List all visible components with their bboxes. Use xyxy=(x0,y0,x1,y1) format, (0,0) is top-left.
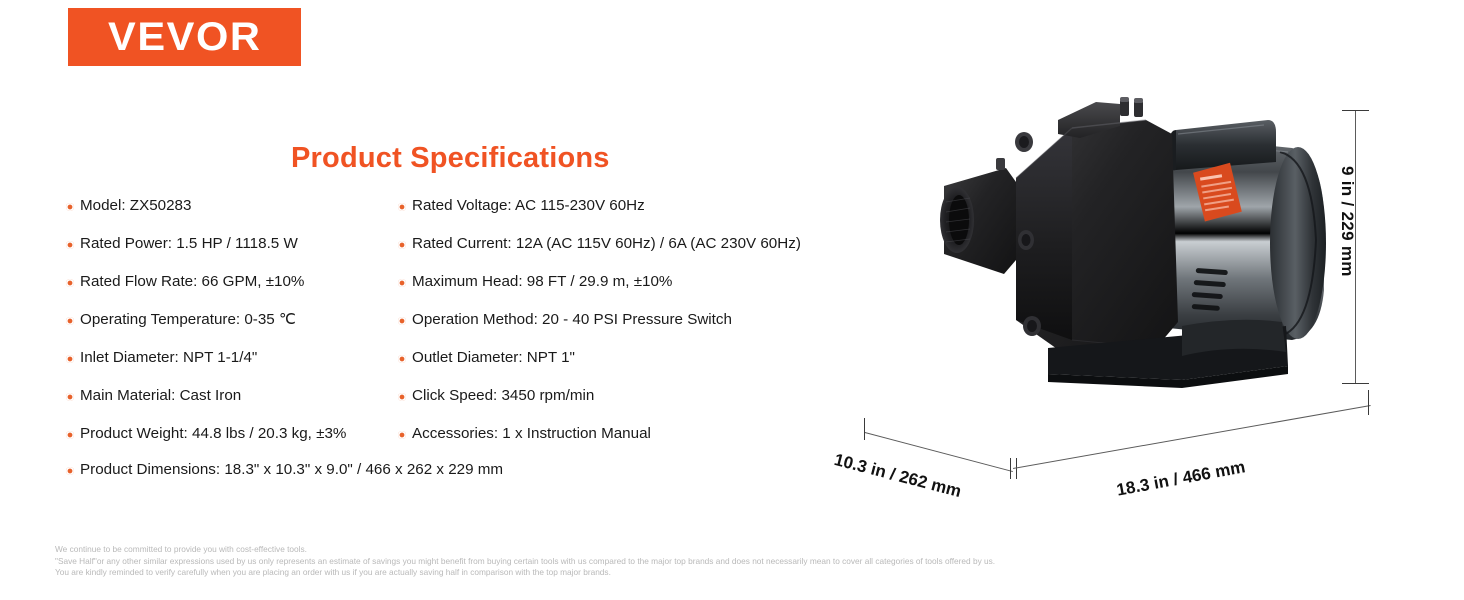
bullet-icon xyxy=(398,317,406,325)
brand-wordmark: VEVOR xyxy=(108,17,261,57)
spec-item: Rated Current: 12A (AC 115V 60Hz) / 6A (… xyxy=(398,234,868,272)
bullet-icon xyxy=(66,317,74,325)
spec-item: Operating Temperature: 0-35 ℃ xyxy=(66,310,406,348)
depth-tick-right-b xyxy=(1016,458,1017,479)
width-dimension-line xyxy=(1013,405,1371,469)
bullet-icon xyxy=(66,279,74,287)
top-bolts xyxy=(1120,97,1143,117)
bullet-icon xyxy=(398,355,406,363)
capacitor-cover xyxy=(1169,120,1276,170)
spec-item: Outlet Diameter: NPT 1" xyxy=(398,348,868,386)
disclaimer: We continue to be committed to provide y… xyxy=(55,544,995,579)
depth-tick-left xyxy=(864,418,865,440)
spec-item: Maximum Head: 98 FT / 29.9 m, ±10% xyxy=(398,272,868,310)
bullet-icon xyxy=(398,279,406,287)
spec-item: Operation Method: 20 - 40 PSI Pressure S… xyxy=(398,310,868,348)
spec-text: Main Material: Cast Iron xyxy=(80,386,241,406)
spec-item: Click Speed: 3450 rpm/min xyxy=(398,386,868,424)
spec-list-left: Model: ZX50283 Rated Power: 1.5 HP / 111… xyxy=(66,196,406,462)
bullet-icon xyxy=(66,355,74,363)
spec-item: Product Weight: 44.8 lbs / 20.3 kg, ±3% xyxy=(66,424,406,462)
spec-text: Product Weight: 44.8 lbs / 20.3 kg, ±3% xyxy=(80,424,346,444)
spec-item: Inlet Diameter: NPT 1-1/4" xyxy=(66,348,406,386)
page-title: Product Specifications xyxy=(291,142,610,175)
product-figure: 9 in / 229 mm 10.3 in / 262 mm 18.3 in /… xyxy=(830,80,1430,510)
spec-text: Operation Method: 20 - 40 PSI Pressure S… xyxy=(412,310,732,330)
spec-text: Rated Voltage: AC 115-230V 60Hz xyxy=(412,196,645,216)
spec-item: Rated Power: 1.5 HP / 1118.5 W xyxy=(66,234,406,272)
height-tick-top xyxy=(1342,110,1369,111)
spec-item-dimensions: Product Dimensions: 18.3" x 10.3" x 9.0"… xyxy=(66,460,503,480)
depth-tick-right-a xyxy=(1010,458,1011,479)
spec-text: Click Speed: 3450 rpm/min xyxy=(412,386,594,406)
spec-item: Model: ZX50283 xyxy=(66,196,406,234)
bullet-icon xyxy=(66,203,74,211)
bullet-icon xyxy=(66,241,74,249)
bullet-icon xyxy=(398,203,406,211)
bullet-icon xyxy=(398,431,406,439)
spec-text: Rated Current: 12A (AC 115V 60Hz) / 6A (… xyxy=(412,234,801,254)
bullet-icon xyxy=(66,431,74,439)
spec-text: Rated Power: 1.5 HP / 1118.5 W xyxy=(80,234,298,254)
spec-text: Model: ZX50283 xyxy=(80,196,191,216)
spec-text: Product Dimensions: 18.3" x 10.3" x 9.0"… xyxy=(80,460,503,480)
width-dimension-label: 18.3 in / 466 mm xyxy=(1115,457,1247,500)
spec-item: Accessories: 1 x Instruction Manual xyxy=(398,424,868,462)
disclaimer-line-1: We continue to be committed to provide y… xyxy=(55,544,995,556)
pump-product-image xyxy=(920,90,1350,410)
height-tick-bottom xyxy=(1342,383,1369,384)
disclaimer-line-3: You are kindly reminded to verify carefu… xyxy=(55,567,995,579)
spec-text: Operating Temperature: 0-35 ℃ xyxy=(80,310,296,330)
spec-text: Inlet Diameter: NPT 1-1/4" xyxy=(80,348,257,368)
product-spec-page: VEVOR Product Specifications Model: ZX50… xyxy=(0,0,1464,600)
spec-item: Main Material: Cast Iron xyxy=(66,386,406,424)
bullet-icon xyxy=(398,241,406,249)
spec-text: Outlet Diameter: NPT 1" xyxy=(412,348,575,368)
bullet-icon xyxy=(66,467,74,475)
vevor-logo: VEVOR xyxy=(68,8,301,66)
spec-item: Rated Flow Rate: 66 GPM, ±10% xyxy=(66,272,406,310)
spec-text: Accessories: 1 x Instruction Manual xyxy=(412,424,651,444)
spec-text: Rated Flow Rate: 66 GPM, ±10% xyxy=(80,272,304,292)
depth-dimension-label: 10.3 in / 262 mm xyxy=(832,450,963,502)
disclaimer-line-2: "Save Half"or any other similar expressi… xyxy=(55,556,995,568)
spec-list-right: Rated Voltage: AC 115-230V 60Hz Rated Cu… xyxy=(398,196,868,462)
bullet-icon xyxy=(398,393,406,401)
height-dimension-label: 9 in / 229 mm xyxy=(1337,166,1357,277)
spec-item: Rated Voltage: AC 115-230V 60Hz xyxy=(398,196,868,234)
inlet-port xyxy=(940,168,1016,274)
width-tick-right xyxy=(1368,390,1369,415)
spec-text: Maximum Head: 98 FT / 29.9 m, ±10% xyxy=(412,272,672,292)
bullet-icon xyxy=(66,393,74,401)
cast-iron-pump-body xyxy=(940,97,1178,358)
